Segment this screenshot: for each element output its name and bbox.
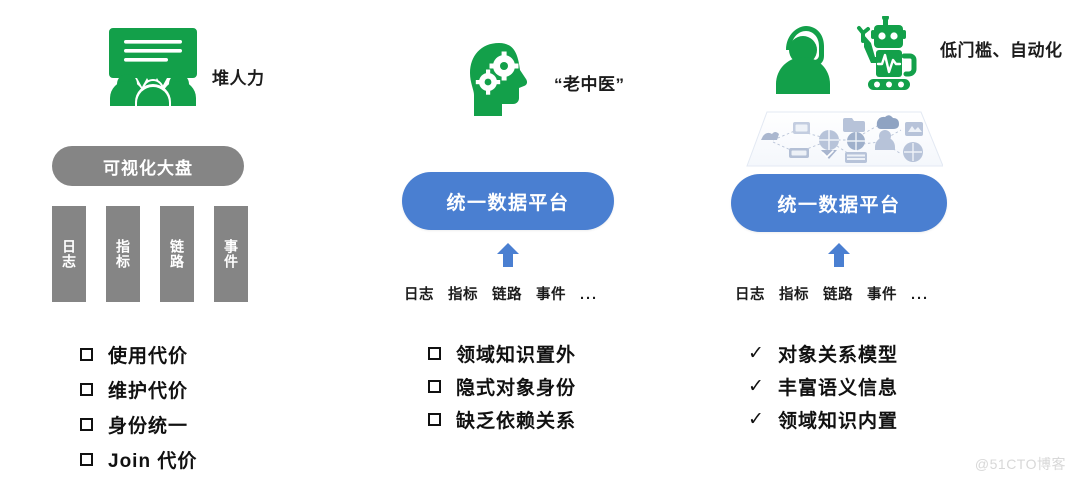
bullet-label: 使用代价 [108,341,188,368]
square-marker-icon [78,383,94,396]
data-source-bar[interactable]: 链路 [160,206,194,302]
visualization-dashboard-label: 可视化大盘 [103,154,193,179]
bullet-item: 身份统一 [78,407,197,442]
unified-data-platform-pill-middle[interactable]: 统一数据平台 [402,172,614,230]
bullet-label: 领域知识内置 [778,406,898,433]
bullet-label: 隐式对象身份 [456,373,576,400]
headset-person-icon [772,22,834,94]
robot-icon [852,16,924,94]
watermark: @51CTO博客 [975,454,1066,474]
bullet-label: 缺乏依赖关系 [456,406,576,433]
source-ellipsis: ... [580,287,598,303]
unified-data-platform-label: 统一数据平台 [446,188,569,215]
source-label: 日志 [404,283,434,304]
source-label: 事件 [867,283,897,304]
caption-left: 堆人力 [212,64,265,89]
bullet-item: 缺乏依赖关系 [426,403,576,436]
bullet-item: 领域知识置外 [426,337,576,370]
bullet-label: 丰富语义信息 [778,373,898,400]
data-source-bar[interactable]: 事件 [214,206,248,302]
visualization-dashboard-pill[interactable]: 可视化大盘 [52,146,244,186]
source-labels-middle: 日志 指标 链路 事件 ... [404,283,598,304]
unified-data-platform-label: 统一数据平台 [777,190,900,217]
bullet-item: 隐式对象身份 [426,370,576,403]
network-topology-panel [737,108,943,176]
data-source-bar[interactable]: 日志 [52,206,86,302]
data-source-bar[interactable]: 指标 [106,206,140,302]
source-label: 事件 [536,283,566,304]
data-source-bars-group: 日志 指标 链路 事件 [52,206,248,302]
bullet-list-right: ✓ 对象关系模型 ✓ 丰富语义信息 ✓ 领域知识内置 [748,337,898,436]
bullet-label: 维护代价 [108,376,188,403]
bullet-item: ✓ 领域知识内置 [748,403,898,436]
caption-middle: “老中医” [554,70,625,95]
check-marker-icon: ✓ [748,377,764,396]
check-marker-icon: ✓ [748,344,764,363]
unified-data-platform-pill-right[interactable]: 统一数据平台 [731,174,947,232]
source-label: 日志 [735,283,765,304]
up-arrow-icon [828,243,850,267]
square-marker-icon [426,347,442,360]
square-marker-icon [78,348,94,361]
source-label: 链路 [823,283,853,304]
source-label: 指标 [779,283,809,304]
bullet-label: 身份统一 [108,411,188,438]
caption-right: 低门槛、自动化 [940,36,1063,61]
bullet-label: 领域知识置外 [456,340,576,367]
source-label: 指标 [448,283,478,304]
check-marker-icon: ✓ [748,410,764,429]
up-arrow-icon [497,243,519,267]
square-marker-icon [426,380,442,393]
bullet-item: ✓ 对象关系模型 [748,337,898,370]
bullet-label: 对象关系模型 [778,340,898,367]
source-labels-right: 日志 指标 链路 事件 ... [735,283,929,304]
presentation-people-icon [104,26,202,106]
square-marker-icon [426,413,442,426]
bullet-list-left: 使用代价 维护代价 身份统一 Join 代价 [78,337,197,477]
source-label: 链路 [492,283,522,304]
bullet-item: ✓ 丰富语义信息 [748,370,898,403]
square-marker-icon [78,453,94,466]
head-gears-icon [466,42,532,118]
square-marker-icon [78,418,94,431]
source-ellipsis: ... [911,287,929,303]
bullet-label: Join 代价 [108,446,197,473]
bullet-item: 使用代价 [78,337,197,372]
bullet-item: 维护代价 [78,372,197,407]
bullet-item: Join 代价 [78,442,197,477]
slide-canvas: 堆人力 可视化大盘 日志 指标 链路 事件 使用代价 维护代价 身份统一 Joi… [0,0,1080,488]
bullet-list-middle: 领域知识置外 隐式对象身份 缺乏依赖关系 [426,337,576,436]
